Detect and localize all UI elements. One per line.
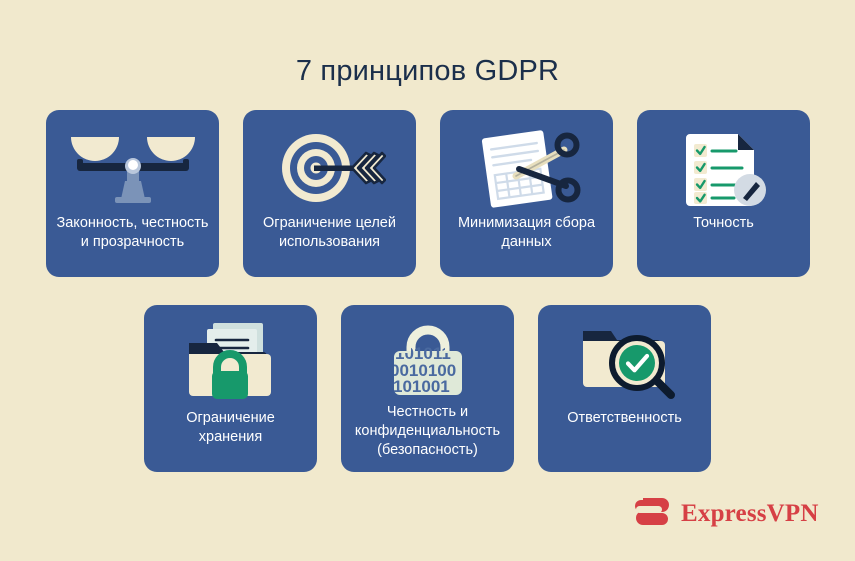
principle-label: Честность и конфиденциальность (безопасн… [351, 403, 504, 460]
principle-label: Минимизация сбора данных [450, 214, 603, 252]
scales-icon [56, 124, 209, 212]
principle-label: Законность, честность и прозрачность [56, 214, 209, 252]
folder-magnifier-check-icon [548, 319, 701, 407]
svg-text:101001: 101001 [393, 377, 450, 396]
document-scissors-icon [450, 124, 603, 212]
target-arrow-icon [253, 124, 406, 212]
page-title: 7 принципов GDPR [0, 55, 855, 88]
checklist-pencil-icon [647, 124, 800, 212]
principle-label: Ограничение хранения [154, 409, 307, 447]
binary-padlock-icon: 101011 0010100 101001 [351, 319, 504, 401]
principle-card-purpose-limitation[interactable]: Ограничение целей использования [243, 110, 416, 277]
principle-card-storage-limitation[interactable]: Ограничение хранения [144, 305, 317, 472]
principle-card-accountability[interactable]: Ответственность [538, 305, 711, 472]
expressvpn-logo[interactable]: ExpressVPN [634, 496, 819, 530]
gdpr-principles-infographic: 7 принципов GDPR [0, 0, 855, 561]
principle-card-accuracy[interactable]: Точность [637, 110, 810, 277]
principle-label: Точность [647, 214, 800, 233]
principle-card-integrity-confidentiality[interactable]: 101011 0010100 101001 Честность и конфид… [341, 305, 514, 472]
expressvpn-e-mark [634, 496, 670, 530]
folder-lock-icon [154, 319, 307, 407]
principle-card-data-minimisation[interactable]: Минимизация сбора данных [440, 110, 613, 277]
principle-label: Ответственность [548, 409, 701, 428]
principles-row-bottom: Ограничение хранения 101011 [144, 305, 711, 472]
principle-label: Ограничение целей использования [253, 214, 406, 252]
principles-row-top: Законность, честность и прозрачность [46, 110, 810, 277]
expressvpn-wordmark: ExpressVPN [681, 501, 819, 526]
principle-card-lawfulness[interactable]: Законность, честность и прозрачность [46, 110, 219, 277]
